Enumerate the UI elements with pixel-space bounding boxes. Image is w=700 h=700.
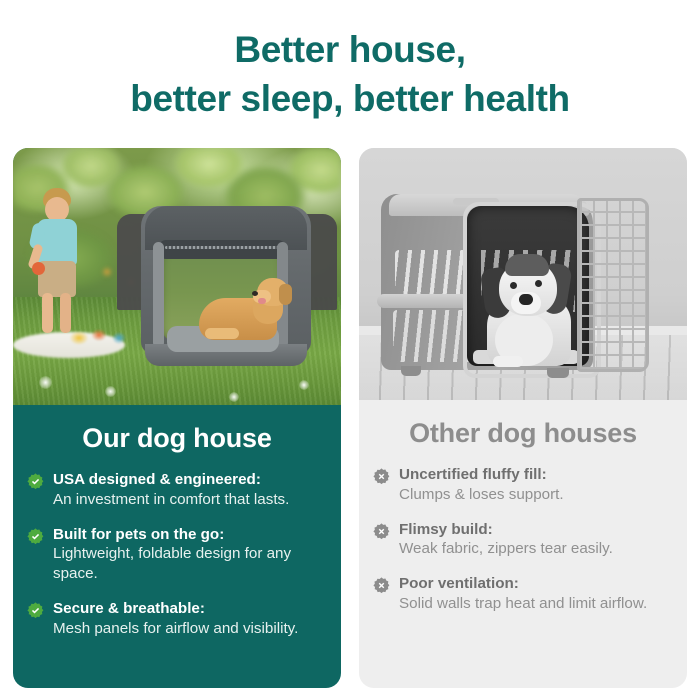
other-dog-houses-drawbacks-list: Uncertified fluffy fill: Clumps & loses …: [359, 465, 687, 614]
boy-leg-right: [60, 293, 71, 333]
small-dog-paw: [493, 356, 523, 367]
photo-dandelion: [299, 380, 309, 390]
small-dog-nose: [519, 294, 533, 305]
our-dog-house-content: Our dog house USA designed & engineered:…: [13, 405, 341, 688]
our-dog-house-photo: [13, 148, 341, 405]
check-circle-icon: [27, 473, 44, 490]
list-item-description: An investment in comfort that lasts.: [53, 490, 289, 510]
list-item: Uncertified fluffy fill: Clumps & loses …: [373, 465, 669, 505]
our-dog-house-benefits-list: USA designed & engineered: An investment…: [13, 470, 341, 638]
our-dog-house-card: Our dog house USA designed & engineered:…: [13, 148, 341, 688]
list-item-description: Mesh panels for airflow and visibility.: [53, 619, 298, 639]
list-item-text: Built for pets on the go: Lightweight, f…: [53, 525, 323, 584]
list-item-description: Clumps & loses support.: [399, 485, 564, 505]
list-item-text: Flimsy build: Weak fabric, zippers tear …: [399, 520, 613, 560]
playpen-rolled-flap: [159, 240, 285, 259]
photo-dandelion: [105, 386, 116, 397]
other-dog-houses-content: Other dog houses Uncertified fluffy fill…: [359, 400, 687, 688]
photo-pet-playpen: [115, 206, 337, 366]
photo-dandelion: [229, 392, 239, 402]
playpen-zipper: [165, 246, 279, 249]
list-item-title: Flimsy build:: [399, 520, 613, 540]
photo-dandelion: [39, 376, 52, 389]
dog-nose: [252, 291, 258, 296]
list-item-text: Secure & breathable: Mesh panels for air…: [53, 599, 298, 639]
photo-golden-retriever: [195, 278, 295, 340]
list-item: Built for pets on the go: Lightweight, f…: [27, 525, 323, 584]
list-item: USA designed & engineered: An investment…: [27, 470, 323, 510]
small-dog-eye-right: [535, 280, 542, 287]
cross-circle-icon: [373, 577, 390, 594]
list-item-title: USA designed & engineered:: [53, 470, 289, 490]
list-item-text: Uncertified fluffy fill: Clumps & loses …: [399, 465, 564, 505]
playpen-door-rim-left: [153, 242, 164, 348]
page-title: Better house, better sleep, better healt…: [0, 26, 700, 124]
boy-ball: [32, 262, 45, 275]
list-item-title: Uncertified fluffy fill:: [399, 465, 564, 485]
cross-circle-icon: [373, 468, 390, 485]
page-title-line-2: better sleep, better health: [0, 75, 700, 124]
list-item-title: Built for pets on the go:: [53, 525, 323, 545]
dog-ear: [279, 284, 292, 305]
list-item-text: Poor ventilation: Solid walls trap heat …: [399, 574, 647, 614]
list-item: Secure & breathable: Mesh panels for air…: [27, 599, 323, 639]
photo-travel-kennel: [381, 176, 619, 378]
list-item: Poor ventilation: Solid walls trap heat …: [373, 574, 669, 614]
list-item-title: Poor ventilation:: [399, 574, 647, 594]
photo-small-dog: [477, 252, 581, 368]
list-item-title: Secure & breathable:: [53, 599, 298, 619]
photo-boy: [31, 188, 89, 340]
list-item-description: Lightweight, foldable design for any spa…: [53, 544, 323, 584]
dog-tongue: [258, 298, 266, 304]
check-circle-icon: [27, 528, 44, 545]
our-dog-house-title: Our dog house: [13, 423, 341, 454]
small-dog-head-marking: [505, 254, 549, 276]
list-item-text: USA designed & engineered: An investment…: [53, 470, 289, 510]
boy-leg-left: [42, 293, 53, 333]
other-dog-houses-title: Other dog houses: [359, 418, 687, 449]
small-dog-eye-left: [510, 282, 517, 289]
kennel-foot-right: [547, 368, 569, 378]
other-dog-houses-photo: [359, 148, 687, 400]
list-item-description: Weak fabric, zippers tear easily.: [399, 539, 613, 559]
comparison-cards: Our dog house USA designed & engineered:…: [13, 148, 687, 688]
list-item: Flimsy build: Weak fabric, zippers tear …: [373, 520, 669, 560]
dog-paw: [205, 328, 239, 339]
kennel-wire-door: [577, 198, 649, 372]
list-item-description: Solid walls trap heat and limit airflow.: [399, 594, 647, 614]
other-dog-houses-card: Other dog houses Uncertified fluffy fill…: [359, 148, 687, 688]
comparison-infographic: Better house, better sleep, better healt…: [0, 0, 700, 700]
check-circle-icon: [27, 602, 44, 619]
page-title-line-1: Better house,: [0, 26, 700, 75]
kennel-foot-left: [401, 366, 421, 376]
cross-circle-icon: [373, 523, 390, 540]
